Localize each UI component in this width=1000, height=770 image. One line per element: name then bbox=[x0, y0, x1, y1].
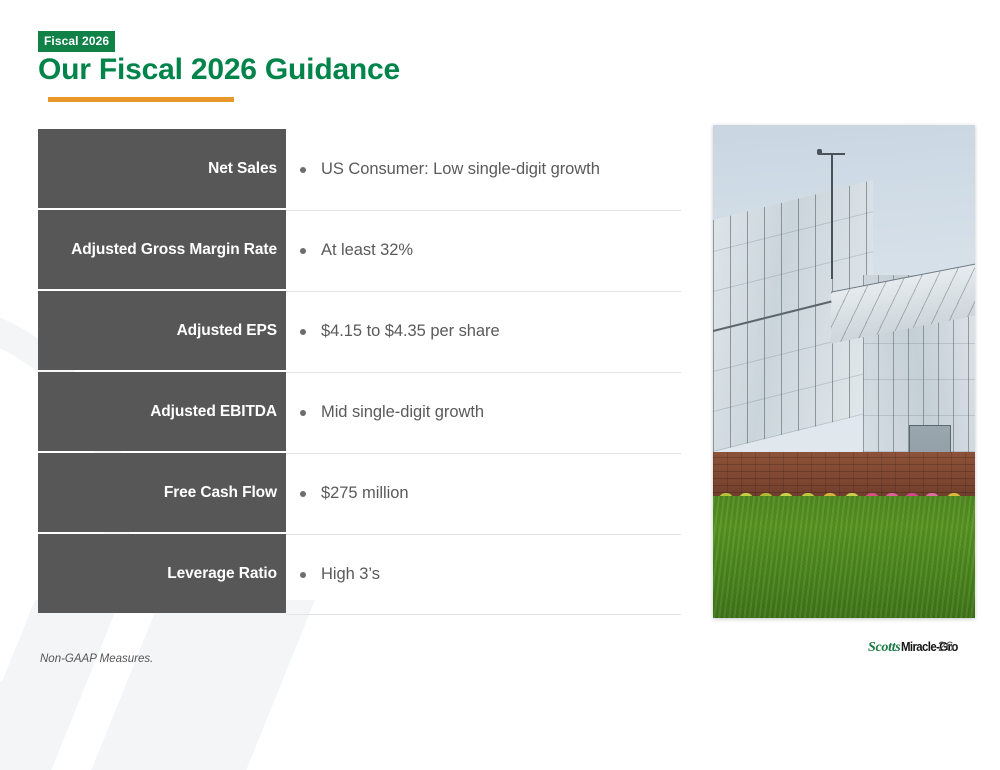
row-label-net-sales: Net Sales bbox=[38, 129, 286, 208]
row-value-text: High 3’s bbox=[321, 565, 380, 584]
table-row: Adjusted EBITDA Mid single-digit growth bbox=[38, 372, 681, 453]
row-label-adjusted-ebitda: Adjusted EBITDA bbox=[38, 372, 286, 451]
row-label-adjusted-eps: Adjusted EPS bbox=[38, 291, 286, 370]
row-value-adjusted-ebitda: Mid single-digit growth bbox=[286, 372, 681, 453]
row-label-adjusted-gross-margin-rate: Adjusted Gross Margin Rate bbox=[38, 210, 286, 289]
eyebrow-badge: Fiscal 2026 bbox=[38, 31, 115, 52]
slide-canvas: Fiscal 2026 Our Fiscal 2026 Guidance Net… bbox=[0, 0, 1000, 685]
footnote: Non-GAAP Measures. bbox=[40, 653, 153, 665]
row-value-text: US Consumer: Low single-digit growth bbox=[321, 160, 600, 179]
row-value-leverage-ratio: High 3’s bbox=[286, 534, 681, 615]
logo-scotts-text: Scotts bbox=[868, 640, 900, 656]
photo-weather-mast bbox=[831, 153, 833, 279]
table-row: Leverage Ratio High 3’s bbox=[38, 534, 681, 615]
row-label-free-cash-flow: Free Cash Flow bbox=[38, 453, 286, 532]
photo-weather-vane-arm bbox=[819, 153, 845, 155]
photo-weather-vane-cup bbox=[817, 149, 822, 155]
title-underline-rule bbox=[48, 97, 234, 102]
row-value-adjusted-gross-margin-rate: At least 32% bbox=[286, 210, 681, 291]
photo-lawn bbox=[713, 496, 975, 618]
row-value-text: Mid single-digit growth bbox=[321, 403, 484, 422]
bullet-icon bbox=[300, 491, 306, 497]
page-number: 26 bbox=[938, 638, 954, 654]
table-row: Adjusted EPS $4.15 to $4.35 per share bbox=[38, 291, 681, 372]
row-value-adjusted-eps: $4.15 to $4.35 per share bbox=[286, 291, 681, 372]
greenhouse-photo bbox=[713, 125, 975, 618]
bullet-icon bbox=[300, 329, 306, 335]
page-title: Our Fiscal 2026 Guidance bbox=[38, 53, 400, 87]
bullet-icon bbox=[300, 248, 306, 254]
table-row: Free Cash Flow $275 million bbox=[38, 453, 681, 534]
guidance-table: Net Sales US Consumer: Low single-digit … bbox=[38, 129, 681, 616]
row-value-text: $275 million bbox=[321, 484, 408, 503]
row-value-text: At least 32% bbox=[321, 241, 413, 260]
row-value-net-sales: US Consumer: Low single-digit growth bbox=[286, 129, 681, 210]
table-row: Adjusted Gross Margin Rate At least 32% bbox=[38, 210, 681, 291]
bullet-icon bbox=[300, 167, 306, 173]
bullet-icon bbox=[300, 572, 306, 578]
row-label-leverage-ratio: Leverage Ratio bbox=[38, 534, 286, 613]
row-value-text: $4.15 to $4.35 per share bbox=[321, 322, 500, 341]
row-value-free-cash-flow: $275 million bbox=[286, 453, 681, 534]
bullet-icon bbox=[300, 410, 306, 416]
table-row: Net Sales US Consumer: Low single-digit … bbox=[38, 129, 681, 210]
